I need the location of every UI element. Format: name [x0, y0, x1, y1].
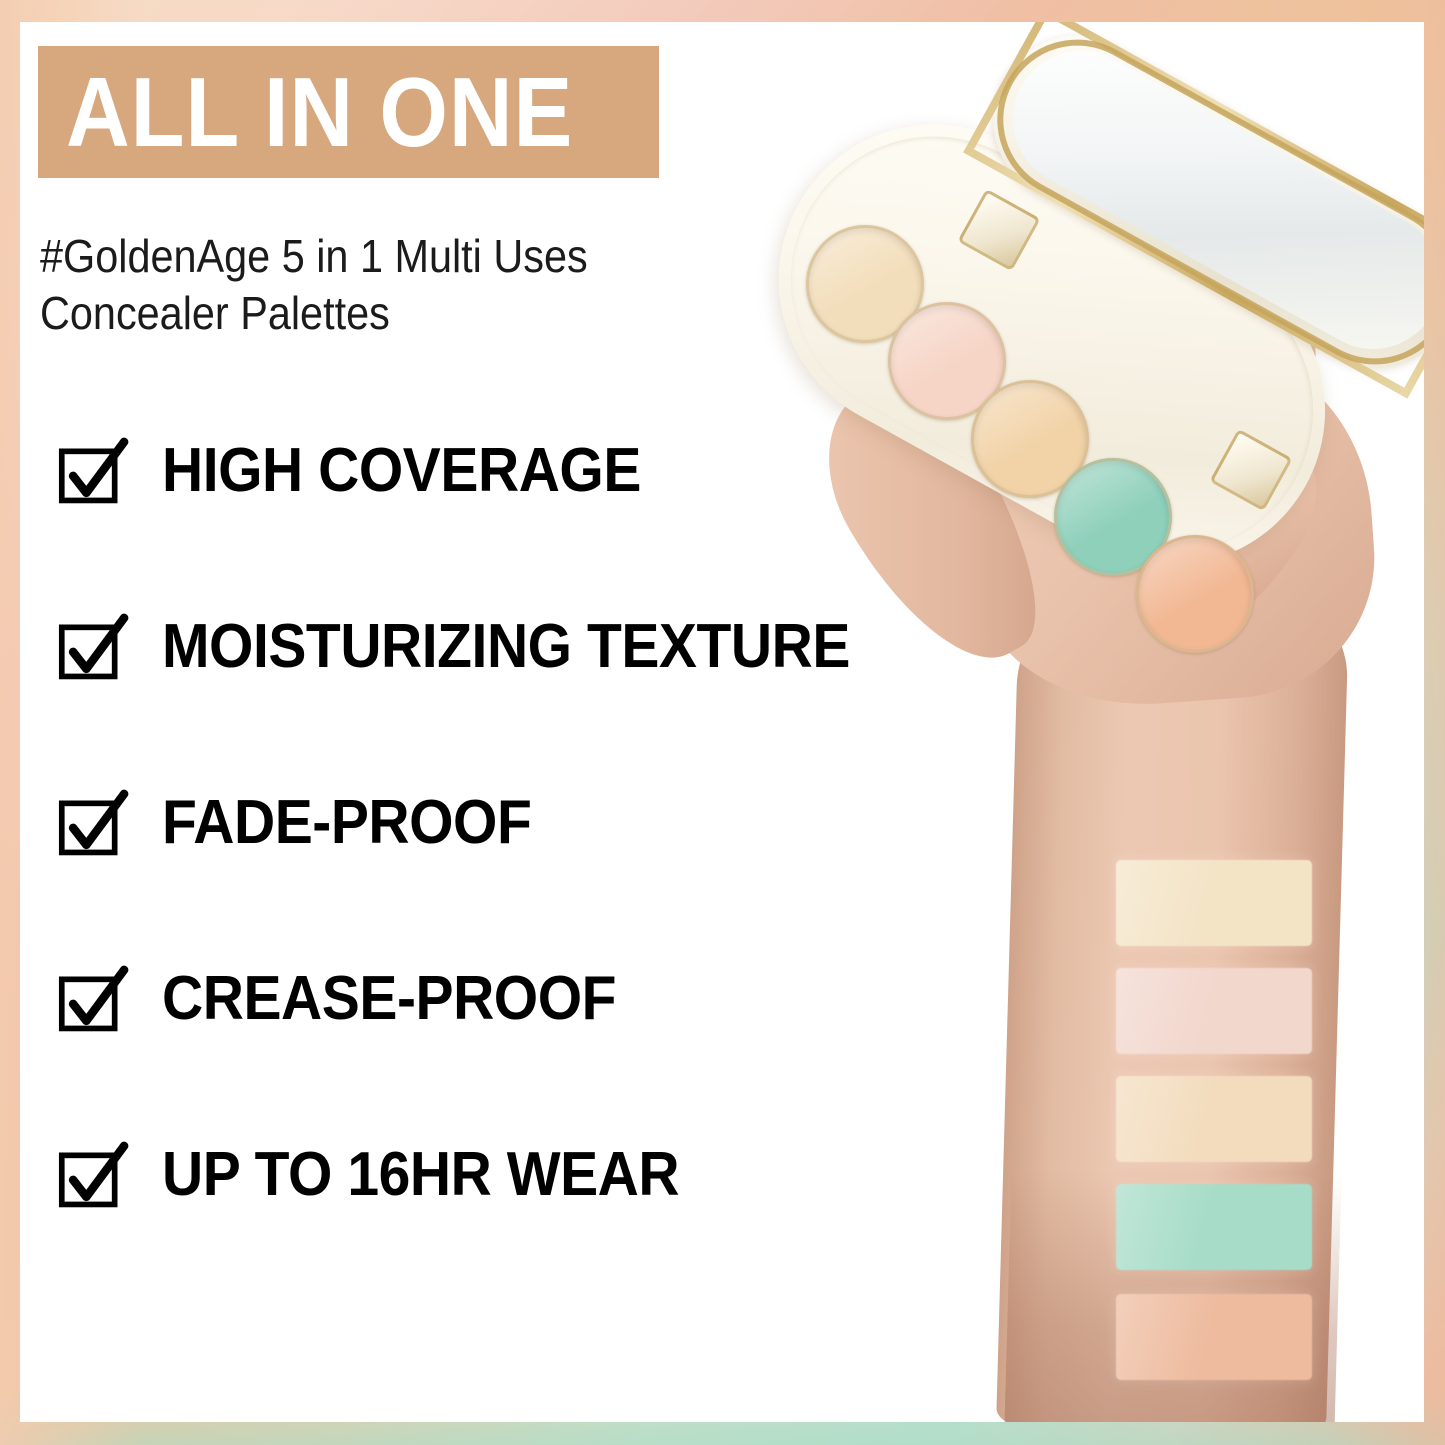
ballot-box-with-check-icon: [58, 616, 126, 684]
product-photo: [740, 22, 1424, 1422]
feature-list: HIGH COVERAGE MOISTURIZING TEXTURE: [58, 434, 858, 1314]
feature-item: CREASE-PROOF: [58, 962, 858, 1138]
feature-label: FADE-PROOF: [162, 792, 531, 854]
headline-text: ALL IN ONE: [66, 63, 573, 161]
ballot-box-with-check-icon: [58, 968, 126, 1036]
swatch-peach: [1116, 1294, 1312, 1380]
swatch-pale-yellow: [1116, 860, 1312, 946]
headline-banner: ALL IN ONE: [38, 46, 659, 178]
ballot-box-with-check-icon: [58, 792, 126, 860]
ballot-box-with-check-icon: [58, 1144, 126, 1212]
ballot-box-with-check-icon: [58, 440, 126, 508]
feature-label: UP TO 16HR WEAR: [162, 1144, 679, 1206]
gradient-border-frame: ALL IN ONE #GoldenAge 5 in 1 Multi Uses …: [0, 0, 1445, 1445]
product-card-canvas: ALL IN ONE #GoldenAge 5 in 1 Multi Uses …: [20, 22, 1424, 1422]
feature-label: HIGH COVERAGE: [162, 440, 641, 502]
swatch-sheen: [1116, 860, 1312, 946]
swatch-warm-beige: [1116, 1076, 1312, 1162]
swatch-sheen: [1116, 1294, 1312, 1380]
product-subtitle: #GoldenAge 5 in 1 Multi Uses Concealer P…: [40, 228, 724, 342]
swatch-pale-pink: [1116, 968, 1312, 1054]
pan-highlight: [1139, 538, 1251, 650]
feature-item: HIGH COVERAGE: [58, 434, 858, 610]
feature-label: CREASE-PROOF: [162, 968, 616, 1030]
feature-item: FADE-PROOF: [58, 786, 858, 962]
swatch-sheen: [1116, 1184, 1312, 1270]
feature-item: MOISTURIZING TEXTURE: [58, 610, 858, 786]
swatch-sheen: [1116, 1076, 1312, 1162]
feature-item: UP TO 16HR WEAR: [58, 1138, 858, 1314]
pan-peach-corrector: [1136, 535, 1254, 653]
swatch-sheen: [1116, 968, 1312, 1054]
swatch-mint-green: [1116, 1184, 1312, 1270]
